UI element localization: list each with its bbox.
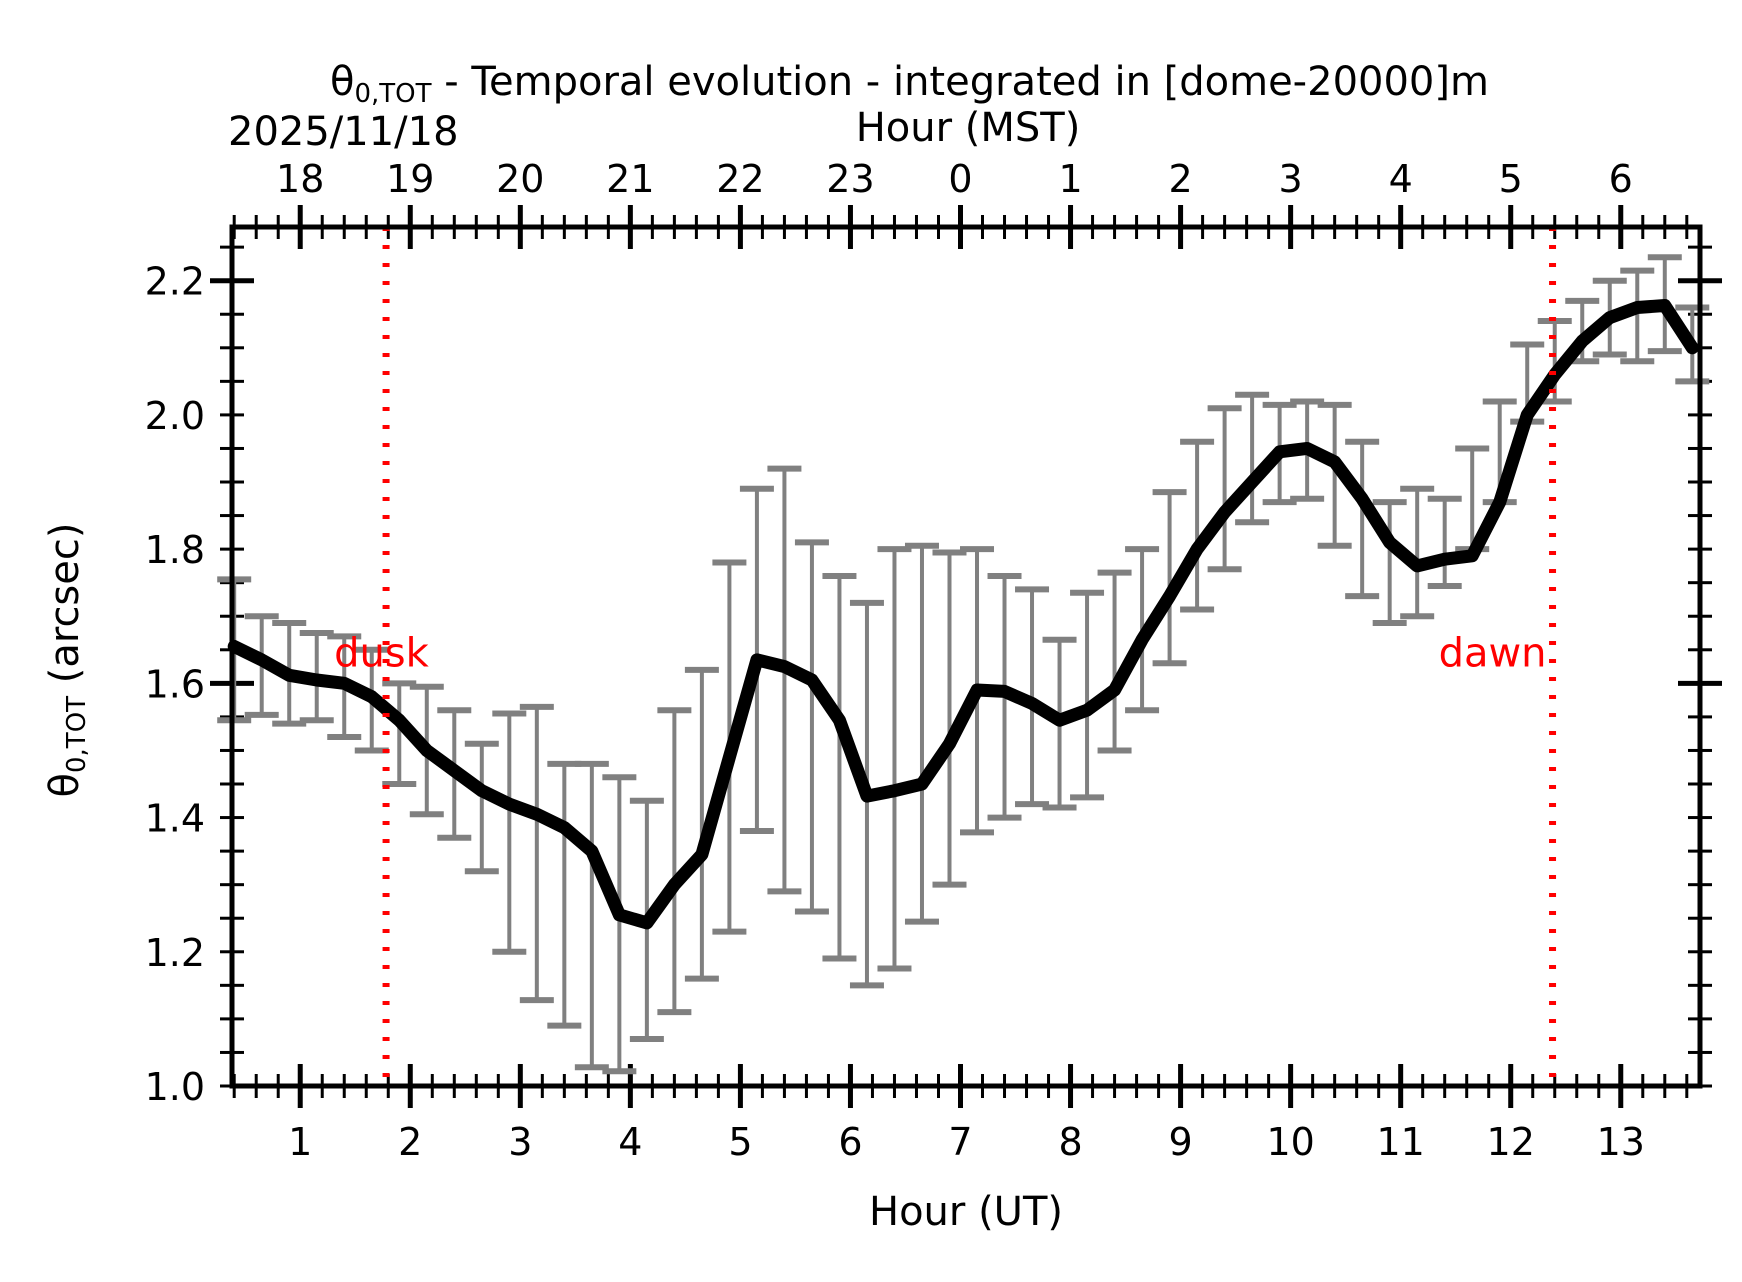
top-axis-title: Hour (MST)	[856, 105, 1081, 151]
bottom-tick-label: 1	[288, 1120, 312, 1164]
y-tick-label: 2.2	[145, 260, 205, 304]
top-tick-label: 6	[1609, 157, 1633, 201]
temporal-evolution-chart: θ0,TOT - Temporal evolution - integrated…	[0, 0, 1742, 1282]
y-tick-label: 2.0	[145, 394, 205, 438]
top-tick-label: 1	[1058, 157, 1082, 201]
y-tick-label: 1.6	[145, 662, 205, 706]
top-tick-label: 22	[716, 157, 764, 201]
bottom-tick-label: 5	[728, 1120, 752, 1164]
bottom-tick-label: 6	[838, 1120, 862, 1164]
bottom-tick-label: 12	[1487, 1120, 1535, 1164]
y-tick-label: 1.8	[145, 528, 205, 572]
top-tick-label: 5	[1499, 157, 1523, 201]
chart-page: θ0,TOT - Temporal evolution - integrated…	[0, 0, 1742, 1282]
bottom-tick-label: 2	[398, 1120, 422, 1164]
bottom-tick-label: 8	[1058, 1120, 1082, 1164]
top-tick-label: 3	[1279, 157, 1303, 201]
top-tick-label: 2	[1168, 157, 1192, 201]
marker-label-dusk: dusk	[334, 631, 430, 677]
bottom-tick-label: 7	[948, 1120, 972, 1164]
bottom-axis-title: Hour (UT)	[869, 1189, 1063, 1235]
y-tick-label: 1.0	[145, 1065, 205, 1109]
bottom-tick-label: 4	[618, 1120, 642, 1164]
top-tick-label: 4	[1389, 157, 1413, 201]
top-tick-label: 19	[386, 157, 434, 201]
top-tick-label: 23	[826, 157, 874, 201]
top-tick-label: 0	[948, 157, 972, 201]
y-tick-label: 1.2	[145, 931, 205, 975]
top-tick-label: 21	[606, 157, 654, 201]
bottom-tick-label: 11	[1376, 1120, 1424, 1164]
marker-label-dawn: dawn	[1439, 631, 1547, 677]
chart-title: θ0,TOT - Temporal evolution - integrated…	[330, 59, 1489, 109]
bottom-tick-label: 13	[1597, 1120, 1645, 1164]
bottom-tick-label: 3	[508, 1120, 532, 1164]
bottom-tick-label: 10	[1266, 1120, 1314, 1164]
top-tick-label: 20	[496, 157, 544, 201]
bottom-tick-label: 9	[1168, 1120, 1192, 1164]
y-tick-label: 1.4	[145, 797, 205, 841]
date-label: 2025/11/18	[228, 109, 459, 155]
top-tick-label: 18	[276, 157, 324, 201]
